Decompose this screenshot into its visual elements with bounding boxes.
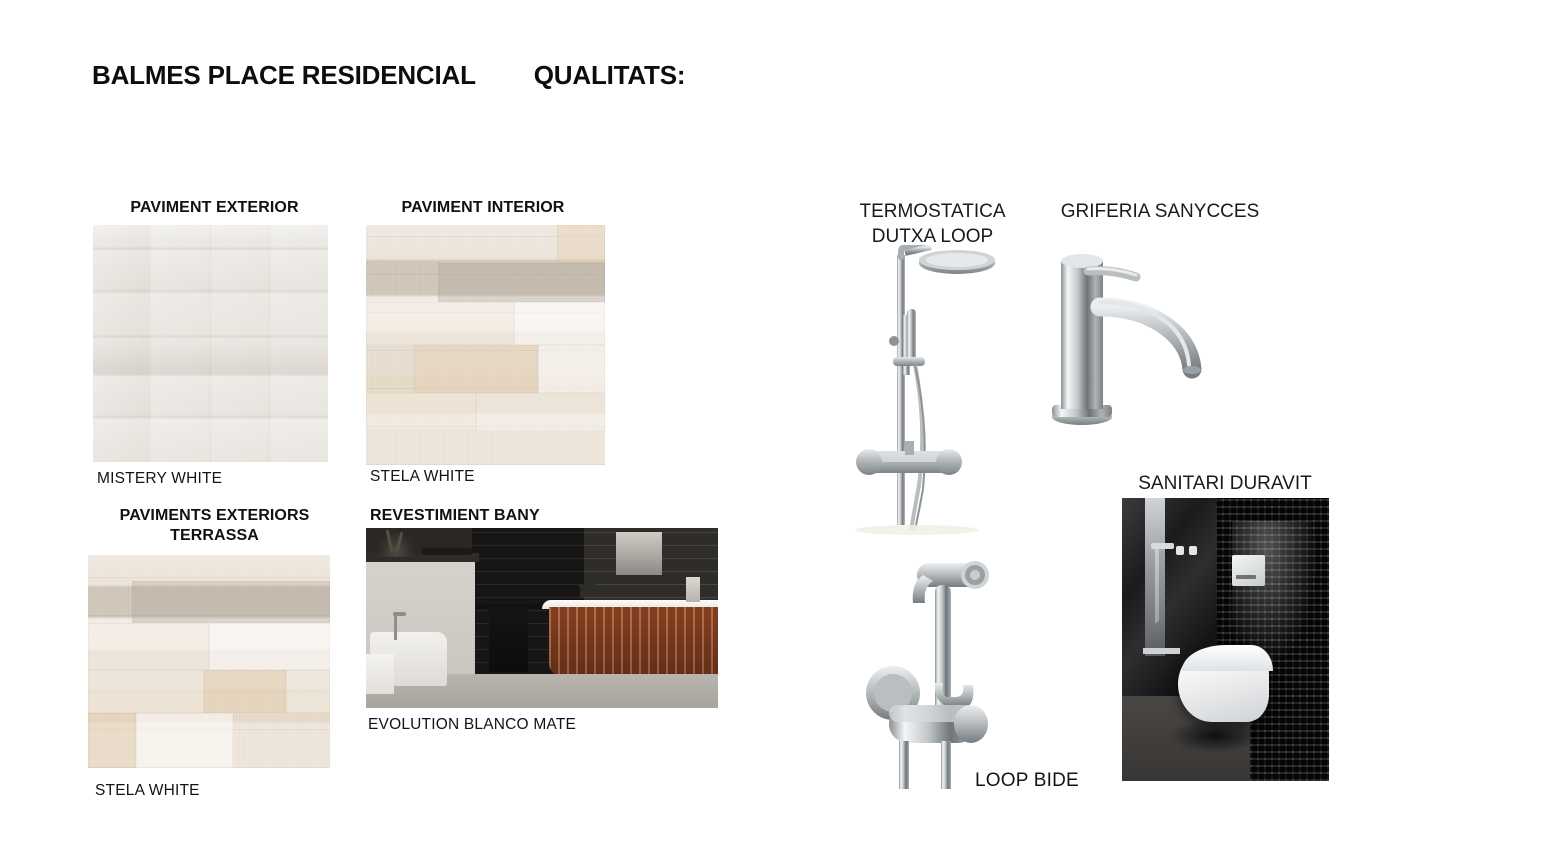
plank-block: [88, 670, 204, 713]
bany-wood-vanity: [549, 607, 718, 677]
evolution-blanco-mate-caption: EVOLUTION BLANCO MATE: [368, 716, 576, 734]
bany-hanging-towel: [489, 607, 528, 672]
terrassa-stela-white-caption: STELA WHITE: [95, 782, 200, 800]
plank-block: [88, 713, 136, 768]
page-subtitle: QUALITATS:: [534, 60, 686, 91]
terrassa-stela-white-tile-swatch: [88, 555, 330, 768]
paviment-interior-header: PAVIMENT INTERIOR: [358, 198, 608, 218]
bany-plant: [377, 530, 416, 557]
basin-mixer-tap-image: [1040, 245, 1225, 435]
bidet-hand-sprayer-image: [855, 545, 1020, 795]
bany-bidet-tap: [394, 616, 397, 639]
griferia-sanycces-header: GRIFERIA SANYCCES: [1040, 200, 1280, 225]
duravit-floor-shadow: [1168, 719, 1263, 753]
termostatica-dutxa-loop-header: TERMOSTATICA DUTXA LOOP: [835, 200, 1030, 249]
mistery-white-caption: MISTERY WHITE: [97, 470, 222, 488]
duravit-wall-hung-toilet-photo: [1122, 498, 1329, 781]
plank-block: [209, 623, 330, 670]
plank-block: [366, 393, 476, 431]
plank-block: [476, 393, 605, 431]
duravit-flush-plate: [1232, 555, 1265, 586]
duravit-shower-drain: [1143, 648, 1180, 654]
stela-white-caption: STELA WHITE: [370, 468, 475, 486]
plank-block: [438, 263, 605, 301]
page-title: BALMES PLACE RESIDENCIAL: [92, 60, 476, 91]
plank-block: [414, 345, 538, 393]
duravit-shower-controls: [1176, 546, 1197, 554]
bany-basin-taps: [570, 584, 619, 600]
plank-block: [538, 345, 605, 393]
bany-bottle: [686, 577, 700, 602]
bany-mirror: [616, 532, 662, 575]
loop-bide-caption: LOOP BIDE: [975, 770, 1079, 792]
bany-folded-towel: [422, 548, 471, 555]
plank-block: [514, 302, 605, 345]
plank-block: [366, 302, 514, 345]
revestimient-bany-header: REVESTIMIENT BANY: [370, 506, 630, 526]
plank-block: [204, 670, 286, 713]
sanitari-duravit-header: SANITARI DURAVIT: [1120, 472, 1330, 497]
terrassa-header-line2: TERRASSA: [170, 527, 259, 544]
duravit-shower-hose: [1155, 549, 1159, 623]
plank-block: [132, 581, 330, 624]
plank-block: [136, 713, 233, 768]
thermostatic-shower-column-image: [845, 245, 1015, 535]
paviments-exteriors-terrassa-header: PAVIMENTS EXTERIORS TERRASSA: [92, 506, 337, 546]
plank-block: [557, 225, 605, 263]
qualitats-slide: BALMES PLACE RESIDENCIAL QUALITATS: PAVI…: [0, 0, 1550, 868]
bathroom-interior-photo: [366, 528, 718, 708]
plank-block: [286, 670, 330, 713]
terrassa-header-line1: PAVIMENTS EXTERIORS: [120, 507, 310, 524]
termostatica-header-line1: TERMOSTATICA: [859, 201, 1005, 222]
bany-toilet: [366, 654, 394, 694]
slide-title-row: BALMES PLACE RESIDENCIAL QUALITATS:: [92, 60, 685, 91]
mistery-white-tile-swatch: [93, 225, 328, 462]
stela-white-tile-swatch: [366, 225, 605, 465]
termostatica-header-line2: DUTXA LOOP: [872, 226, 993, 247]
plank-block: [88, 623, 209, 670]
paviment-exterior-header: PAVIMENT EXTERIOR: [92, 198, 337, 218]
